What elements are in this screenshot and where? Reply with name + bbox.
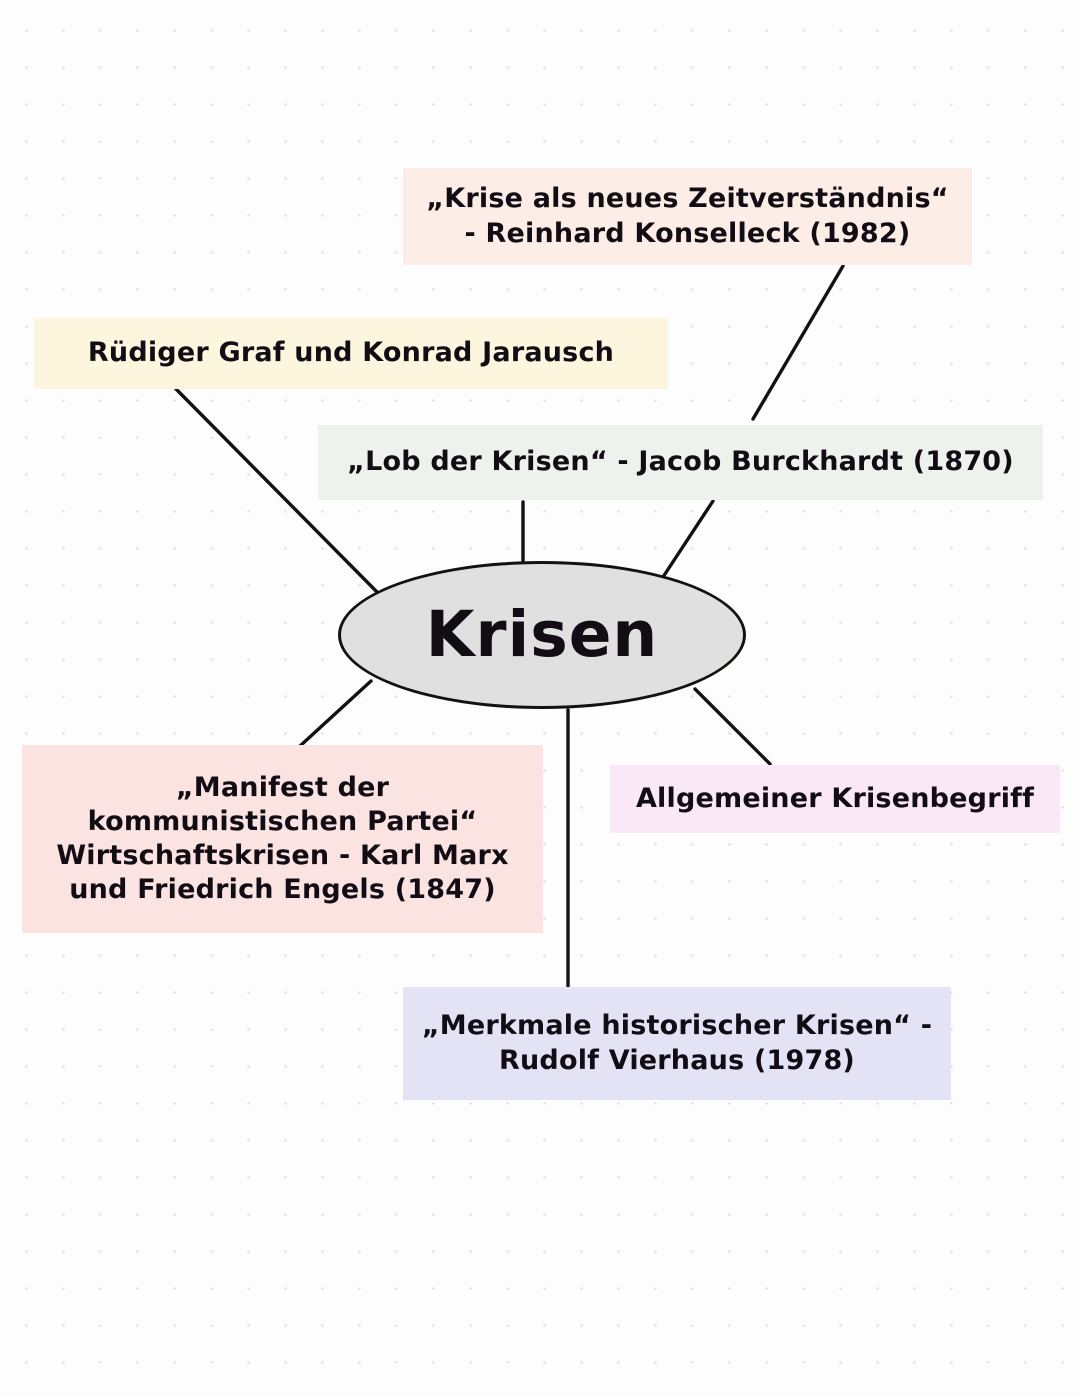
mindmap-canvas: „Krise als neues Zeitverständnis“ - Rein… <box>0 0 1080 1395</box>
connector-burckhardt-center-right <box>663 501 713 577</box>
branch-node-burckhardt[interactable]: „Lob der Krisen“ - Jacob Burckhardt (187… <box>318 425 1043 500</box>
branch-label-marx-engels: „Manifest der kommunistischen Partei“ Wi… <box>22 771 543 907</box>
connector-koselleck-burckhardt <box>753 266 843 419</box>
branch-label-koselleck: „Krise als neues Zeitverständnis“ - Rein… <box>403 182 972 250</box>
branch-node-graf-jarausch[interactable]: Rüdiger Graf und Konrad Jarausch <box>34 318 668 389</box>
central-topic-node[interactable]: Krisen <box>338 561 746 709</box>
branch-label-vierhaus: „Merkmale historischer Krisen“ - Rudolf … <box>403 1009 951 1077</box>
branch-node-marx-engels[interactable]: „Manifest der kommunistischen Partei“ Wi… <box>22 745 543 933</box>
branch-node-vierhaus[interactable]: „Merkmale historischer Krisen“ - Rudolf … <box>403 987 951 1100</box>
branch-label-graf-jarausch: Rüdiger Graf und Konrad Jarausch <box>34 336 668 370</box>
central-topic-label: Krisen <box>341 595 743 674</box>
connector-center-allgemein <box>695 689 770 764</box>
branch-node-allgemeiner-krisenbegriff[interactable]: Allgemeiner Krisenbegriff <box>610 765 1060 833</box>
branch-label-burckhardt: „Lob der Krisen“ - Jacob Burckhardt (187… <box>318 445 1043 479</box>
branch-node-koselleck[interactable]: „Krise als neues Zeitverständnis“ - Rein… <box>403 168 972 265</box>
connector-center-marx <box>300 681 371 746</box>
branch-label-allgemeiner-krisenbegriff: Allgemeiner Krisenbegriff <box>610 782 1060 816</box>
